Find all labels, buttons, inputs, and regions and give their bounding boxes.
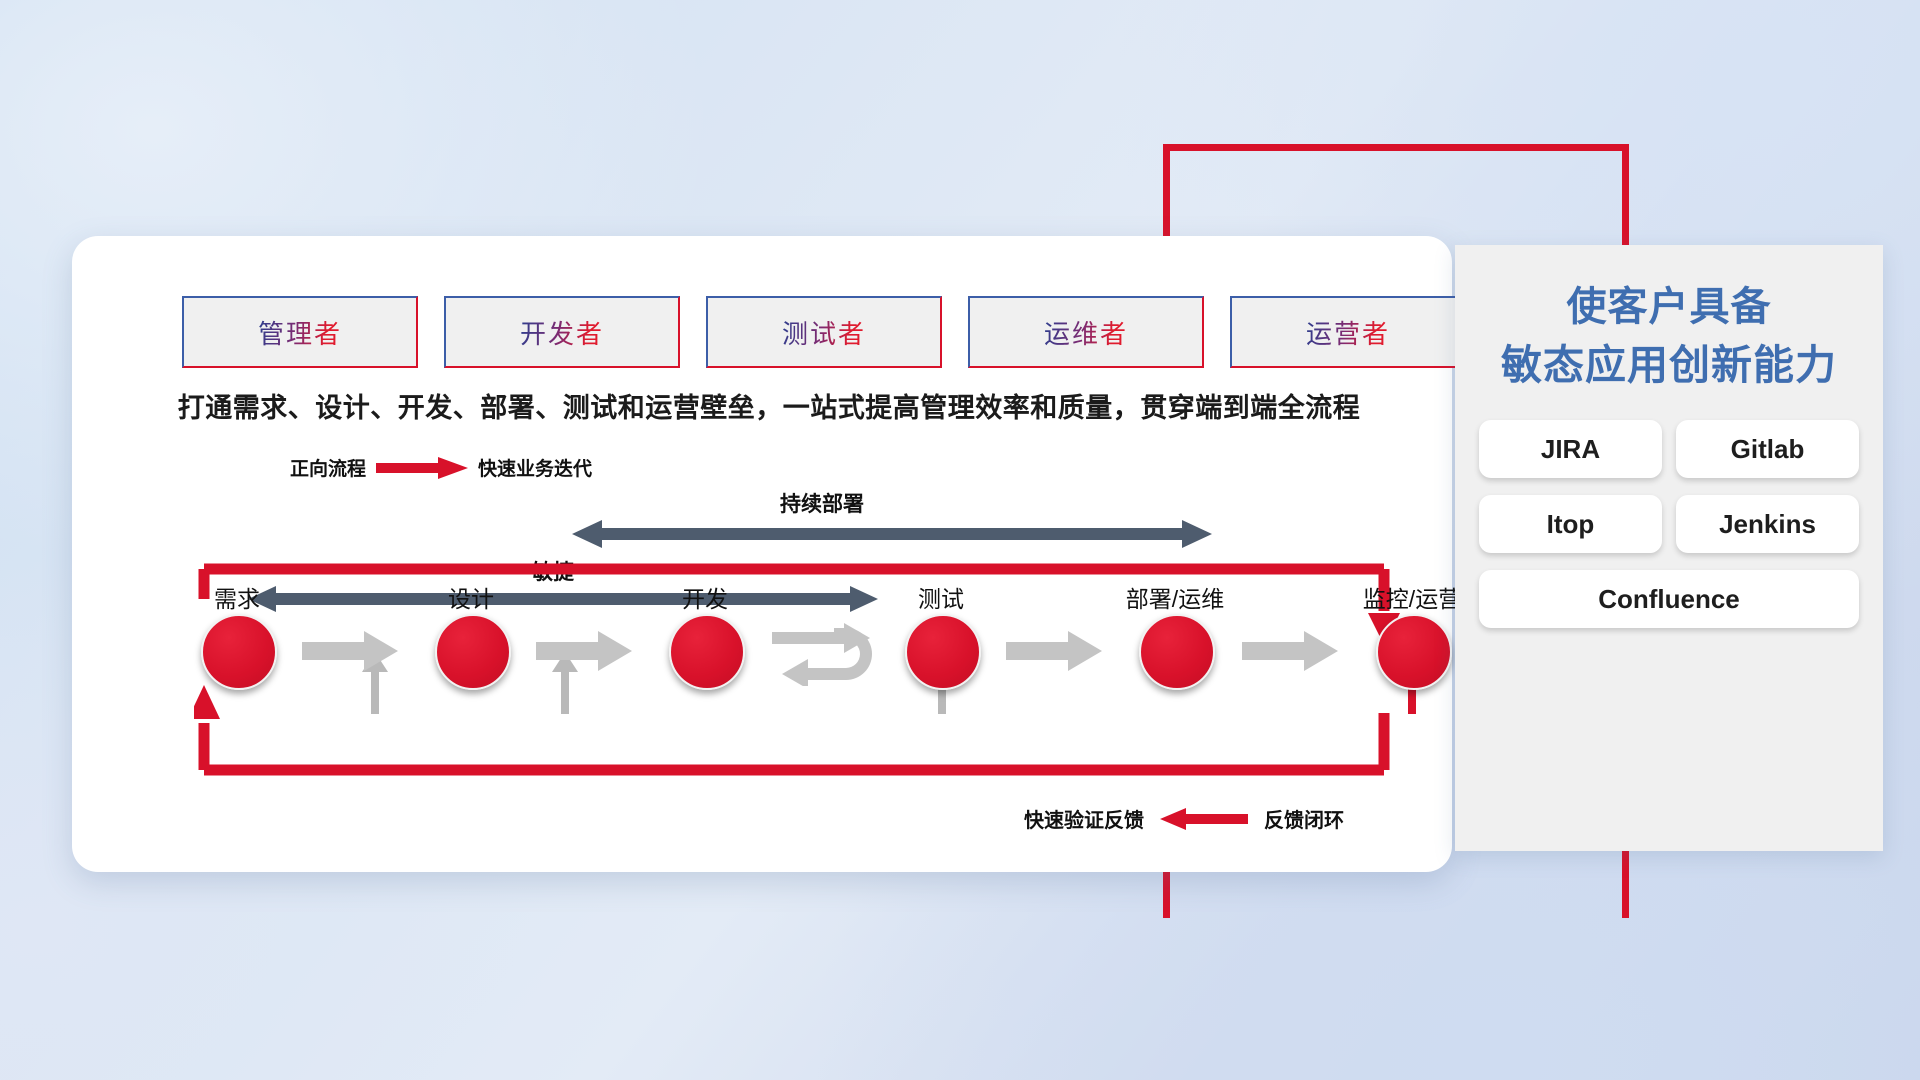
node-label-design: 设计 [448,580,494,614]
forward-flow-left-label: 正向流程 [290,454,366,481]
tool-pill-confluence[interactable]: Confluence [1479,570,1859,628]
role-label-developer: 开发者 [520,314,604,351]
pipeline: 需求 设计 开发 测试 部署/运维 监控/运营 [72,586,1452,746]
tool-pill-jenkins[interactable]: Jenkins [1676,495,1859,553]
role-box-ops[interactable]: 运维者 [968,296,1204,368]
node-deploy-ops[interactable] [1139,614,1215,690]
forward-flow-right-label: 快速业务迭代 [478,454,592,481]
role-box-operations[interactable]: 运营者 [1230,296,1466,368]
role-box-tester[interactable]: 测试者 [706,296,942,368]
tool-pill-group: JIRA Gitlab Itop Jenkins Confluence [1473,420,1865,628]
feedback-left-label: 快速验证反馈 [1024,804,1144,833]
panel-title-line1: 使客户具备 [1455,279,1883,336]
tool-pill-jira[interactable]: JIRA [1479,420,1662,478]
role-label-operations: 运营者 [1306,314,1390,351]
continuous-deploy-double-arrow [572,520,1212,548]
role-label-tester: 测试者 [782,314,866,351]
node-label-monitor-operations: 监控/运营 [1363,580,1461,614]
feedback-right-label: 反馈闭环 [1264,804,1344,833]
flow-arrow-3-icon [1006,631,1102,671]
panel-title-line2: 敏态应用创新能力 [1455,336,1883,394]
node-label-deploy-ops: 部署/运维 [1126,580,1224,614]
tool-pill-gitlab[interactable]: Gitlab [1676,420,1859,478]
panel-title: 使客户具备 敏态应用创新能力 [1455,245,1883,394]
main-diagram-card: 管理者 开发者 测试者 运维者 运营者 打通需求、设计、开发、部署、测试和运营壁… [72,236,1452,872]
role-label-manager: 管理者 [258,314,342,351]
iteration-cycle-arrow-icon [772,618,882,686]
node-label-requirement: 需求 [214,580,260,614]
forward-flow-annotation: 正向流程 快速业务迭代 [290,454,592,481]
node-requirement[interactable] [201,614,277,690]
node-design[interactable] [435,614,511,690]
description-text: 打通需求、设计、开发、部署、测试和运营壁垒，一站式提高管理效率和质量，贯穿端到端… [124,386,1414,425]
node-development[interactable] [669,614,745,690]
node-label-development: 开发 [682,580,728,614]
feedback-annotation: 快速验证反馈 反馈闭环 [1024,804,1344,833]
role-box-row: 管理者 开发者 测试者 运维者 运营者 [182,296,1466,368]
outcome-panel: 使客户具备 敏态应用创新能力 JIRA Gitlab Itop Jenkins … [1455,245,1883,851]
right-arrow-icon [376,457,468,479]
node-monitor-operations[interactable] [1376,614,1452,690]
flow-arrow-1-icon [302,631,398,671]
role-box-developer[interactable]: 开发者 [444,296,680,368]
node-label-testing: 测试 [918,580,964,614]
left-arrow-icon [1160,808,1248,830]
continuous-deploy-label: 持续部署 [780,488,864,518]
role-label-ops: 运维者 [1044,314,1128,351]
tool-pill-itop[interactable]: Itop [1479,495,1662,553]
node-testing[interactable] [905,614,981,690]
flow-arrow-4-icon [1242,631,1338,671]
flow-arrow-2-icon [536,631,632,671]
role-box-manager[interactable]: 管理者 [182,296,418,368]
